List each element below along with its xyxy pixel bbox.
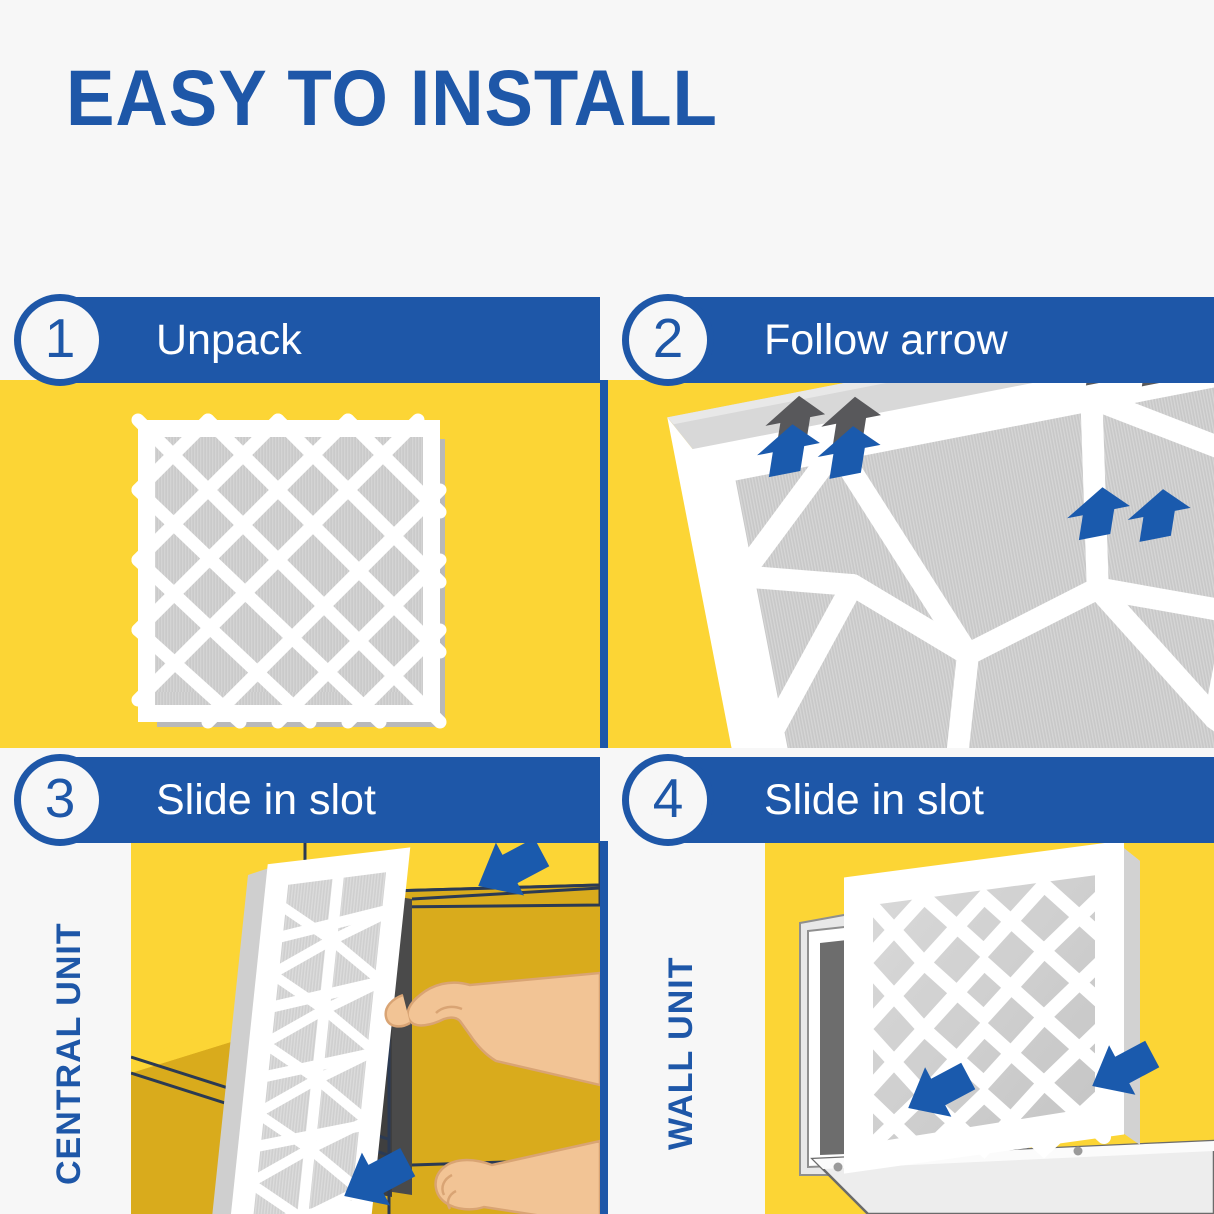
panel-divider-vertical-bottom	[600, 841, 608, 1214]
step-header-4[interactable]: Slide in slot	[668, 757, 1214, 843]
step-4-number: 4	[653, 771, 684, 826]
panel-divider-vertical-top	[600, 380, 608, 750]
step-2-number: 2	[653, 311, 684, 366]
step-header-2[interactable]: Follow arrow	[668, 297, 1214, 383]
infographic-canvas: EASY TO INSTALL	[0, 0, 1214, 1214]
step-4-label: Slide in slot	[668, 779, 984, 822]
step-header-3[interactable]: Slide in slot	[60, 757, 600, 843]
panel-4-side-label: WALL UNIT	[662, 957, 701, 1150]
step-1-number: 1	[45, 311, 76, 366]
panel-divider-horizontal	[0, 748, 1214, 757]
step-header-1[interactable]: Unpack	[60, 297, 600, 383]
step-4-number-badge: 4	[622, 754, 714, 846]
panel-3-side-label: CENTRAL UNIT	[50, 922, 89, 1185]
step-2-label: Follow arrow	[668, 319, 1008, 362]
step-3-label: Slide in slot	[60, 779, 376, 822]
step-1-number-badge: 1	[14, 294, 106, 386]
step-2-number-badge: 2	[622, 294, 714, 386]
step-3-number-badge: 3	[14, 754, 106, 846]
step-3-number: 3	[45, 771, 76, 826]
page-title: EASY TO INSTALL	[66, 56, 718, 140]
